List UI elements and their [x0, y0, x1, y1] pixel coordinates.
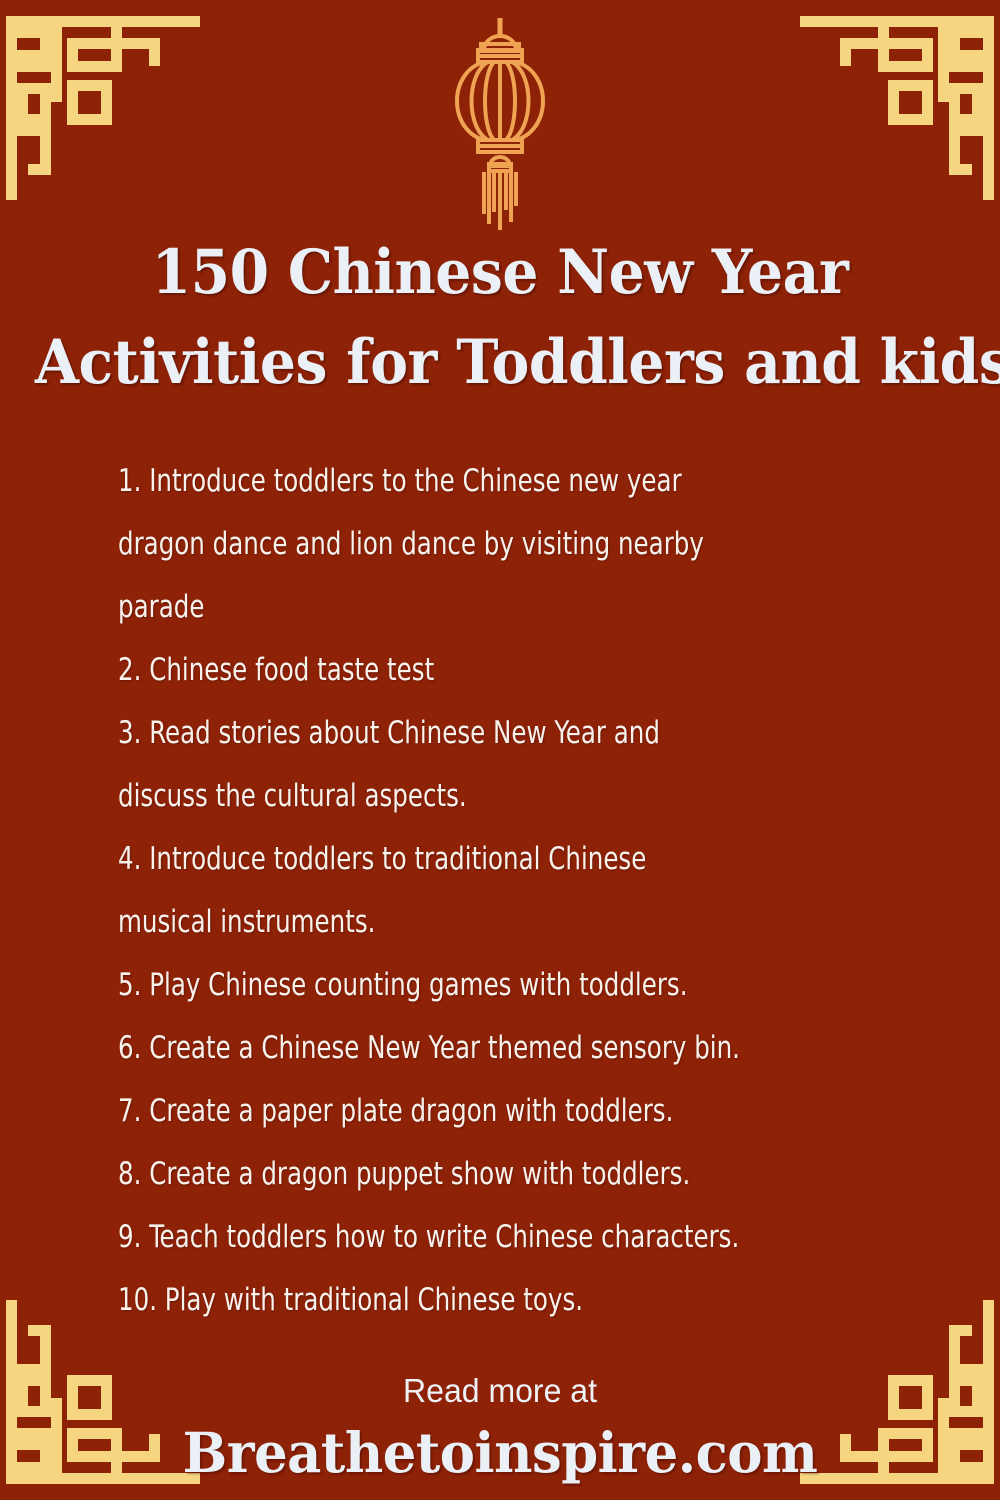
- list-item: 2. Chinese food taste test: [118, 639, 822, 702]
- title-line-2: Activities for Toddlers and kids: [35, 318, 965, 408]
- page-title: 150 Chinese New Year Activities for Todd…: [0, 228, 1000, 408]
- list-item: dragon dance and lion dance by visiting …: [118, 513, 822, 576]
- list-item: 6. Create a Chinese New Year themed sens…: [118, 1017, 822, 1080]
- corner-ornament-top-left: [0, 0, 200, 200]
- list-item: 3. Read stories about Chinese New Year a…: [118, 702, 822, 765]
- footer: Read more at Breathetoinspire.com: [0, 1366, 1000, 1490]
- list-item: 7. Create a paper plate dragon with todd…: [118, 1080, 822, 1143]
- list-item: discuss the cultural aspects.: [118, 765, 822, 828]
- list-item: 9. Teach toddlers how to write Chinese c…: [118, 1206, 822, 1269]
- corner-ornament-top-right: [800, 0, 1000, 200]
- footer-read-more-label: Read more at: [15, 1366, 985, 1416]
- list-item: 5. Play Chinese counting games with todd…: [118, 954, 822, 1017]
- list-item: 4. Introduce toddlers to traditional Chi…: [118, 828, 822, 891]
- activity-list: 1. Introduce toddlers to the Chinese new…: [118, 450, 918, 1332]
- footer-site-name: Breathetoinspire.com: [20, 1416, 980, 1490]
- list-item: musical instruments.: [118, 891, 822, 954]
- chinese-lantern-icon: [440, 6, 560, 234]
- list-item: 10. Play with traditional Chinese toys.: [118, 1269, 822, 1332]
- list-item: parade: [118, 576, 822, 639]
- poster-canvas: 150 Chinese New Year Activities for Todd…: [0, 0, 1000, 1500]
- title-line-1: 150 Chinese New Year: [35, 228, 965, 318]
- list-item: 8. Create a dragon puppet show with todd…: [118, 1143, 822, 1206]
- list-item: 1. Introduce toddlers to the Chinese new…: [118, 450, 822, 513]
